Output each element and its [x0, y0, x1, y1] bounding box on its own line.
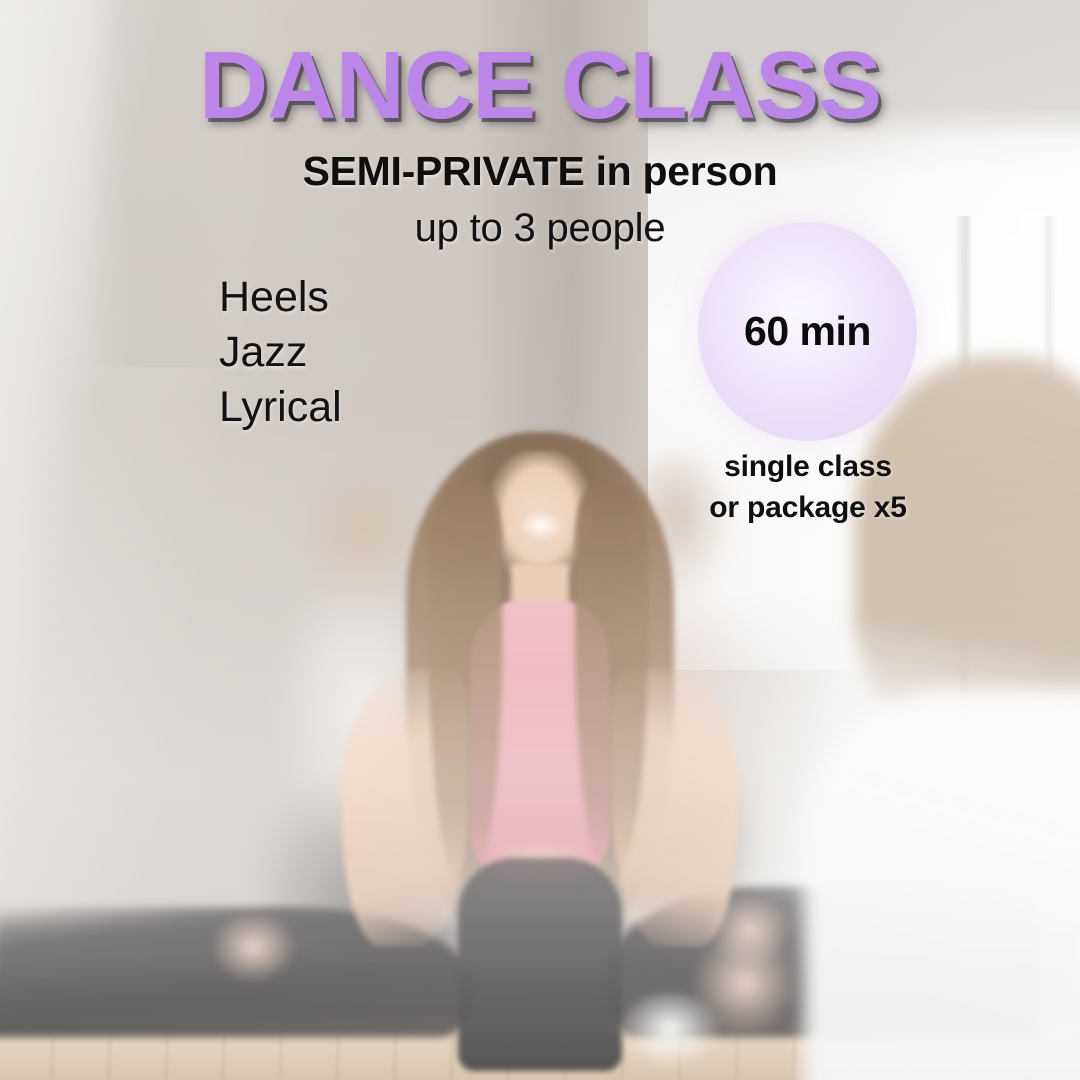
- dance-styles-list: Heels Jazz Lyrical: [219, 270, 342, 435]
- dance-style-item: Jazz: [219, 325, 342, 380]
- pricing-note-line-2: or package x5: [660, 487, 956, 528]
- dance-style-item: Heels: [219, 270, 342, 325]
- poster-capacity: up to 3 people: [0, 206, 1080, 251]
- pricing-note: single class or package x5: [660, 446, 956, 529]
- poster-subtitle: SEMI-PRIVATE in person: [0, 148, 1080, 195]
- pricing-note-line-1: single class: [660, 446, 956, 487]
- duration-badge: 60 min: [698, 222, 917, 441]
- poster-content: DANCE CLASS SEMI-PRIVATE in person up to…: [0, 0, 1080, 1080]
- duration-badge-label: 60 min: [744, 308, 871, 355]
- dance-style-item: Lyrical: [219, 380, 342, 435]
- page-title: DANCE CLASS: [0, 38, 1080, 134]
- dance-class-poster: DANCE CLASS SEMI-PRIVATE in person up to…: [0, 0, 1080, 1080]
